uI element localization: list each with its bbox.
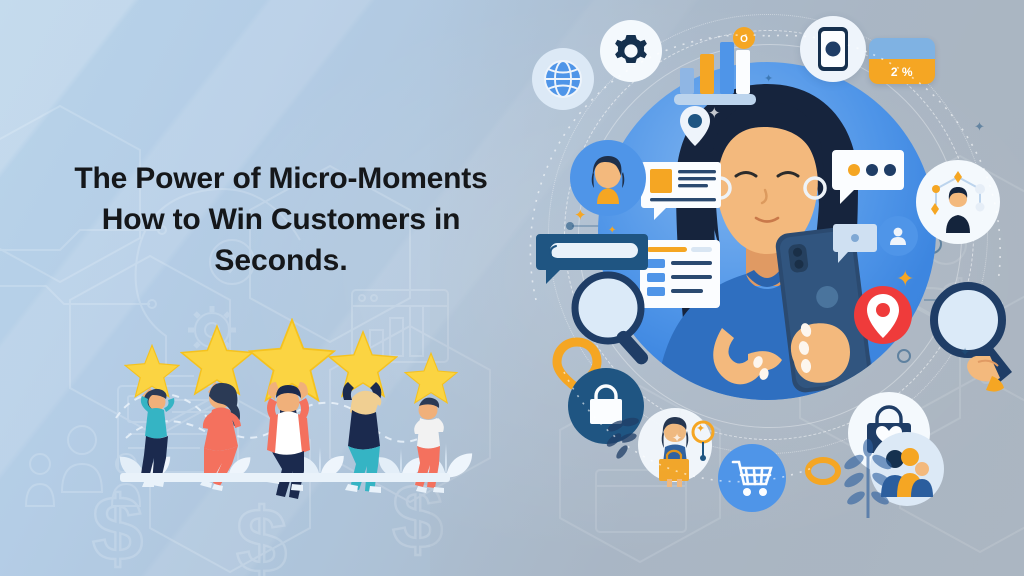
headline-line-1: The Power of Micro-Moments: [46, 158, 516, 199]
five-star-rating-illustration: [108, 318, 478, 518]
orbit-dot-accents: [512, 0, 1024, 576]
slide-canvas: $ $ $: [0, 0, 1024, 576]
ground-line: [120, 473, 450, 482]
micro-moments-hero-illustration: O 2 %: [512, 0, 1024, 576]
headline-line-3: Seconds.: [46, 240, 516, 281]
page-title: The Power of Micro-Moments How to Win Cu…: [46, 158, 516, 281]
headline-line-2: How to Win Customers in: [46, 199, 516, 240]
